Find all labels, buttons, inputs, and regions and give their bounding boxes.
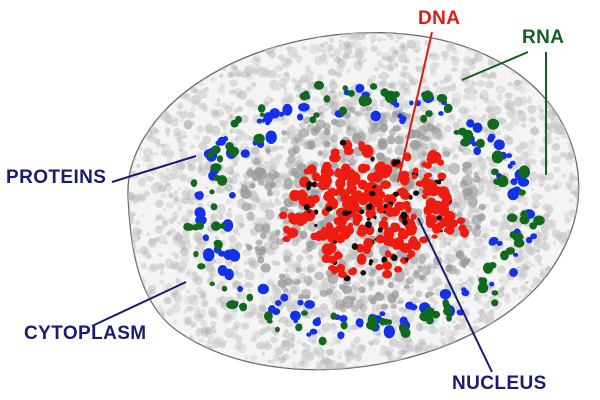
label-cytoplasm: CYTOPLASM (24, 324, 147, 343)
label-nucleus: NUCLEUS (452, 374, 547, 393)
label-rna: RNA (522, 28, 564, 47)
cell-diagram: PROTEINS CYTOPLASM DNA RNA NUCLEUS (0, 0, 600, 400)
label-proteins: PROTEINS (6, 168, 106, 187)
label-dna: DNA (418, 9, 460, 28)
